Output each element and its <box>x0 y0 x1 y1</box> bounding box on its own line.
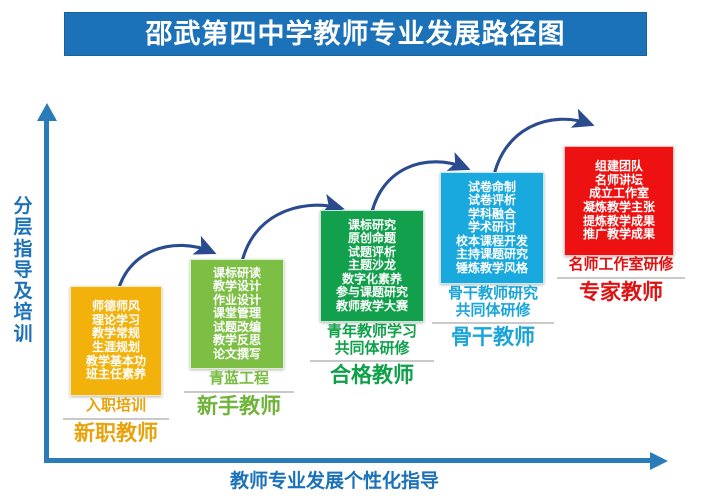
stage-2-item: 教学反思 <box>213 334 261 348</box>
title-banner: 邵武第四中学教师专业发展路径图 <box>64 12 647 56</box>
stage-2-item: 课堂管理 <box>213 307 261 321</box>
stage-1-box[interactable]: 师德师风 理论学习 教学常规 生涯规划 教学基本功 班主任素养 <box>70 286 162 396</box>
stage-3-box[interactable]: 课标研究 原创命题 试题评析 主题沙龙 数字化素养 参与课题研究 教师教学大赛 <box>320 210 424 322</box>
stage-5-program-label: 名师工作室研修 <box>548 257 694 274</box>
x-axis-label: 教师专业发展个性化指导 <box>230 466 439 493</box>
stage-4-program-label: 骨干教师研究 共同体研修 <box>422 286 564 319</box>
stage-1-divider <box>63 418 169 420</box>
stage-4-divider <box>432 322 554 324</box>
stage-5-item: 凝炼教学主张 <box>583 201 655 215</box>
stage-2-divider <box>184 391 294 393</box>
stage-4-program-line2: 共同体研修 <box>422 303 564 320</box>
stage-2-item: 教学设计 <box>213 280 261 294</box>
x-axis-line <box>44 458 654 463</box>
stage-2-program-label: 青蓝工程 <box>174 371 304 388</box>
stage-1-item: 班主任素养 <box>86 368 146 382</box>
stage-3-item: 教师教学大赛 <box>336 300 408 314</box>
stage-2-box[interactable]: 课标研读 教学设计 作业设计 课堂管理 试题改编 教学反思 论文撰写 <box>190 259 284 369</box>
stage-5-item: 成立工作室 <box>589 187 649 201</box>
stage-3-program-line1: 青年教师学习 <box>327 323 417 340</box>
stage-1-item: 师德师风 <box>92 300 140 314</box>
stage-5-caption: 名师工作室研修 专家教师 <box>548 257 694 304</box>
stage-2-caption: 青蓝工程 新手教师 <box>174 371 304 418</box>
y-axis-arrowhead-icon <box>37 103 57 121</box>
page-title: 邵武第四中学教师专业发展路径图 <box>146 21 566 48</box>
stage-2-item: 论文撰写 <box>213 348 261 362</box>
stage-5-role-label: 专家教师 <box>548 281 694 304</box>
y-axis-label: 分层指导及培训 <box>8 196 38 345</box>
stage-3-item: 原创命题 <box>348 232 396 246</box>
stage-4-item: 主持课题研究 <box>456 248 528 262</box>
stage-5-divider <box>557 277 685 279</box>
y-axis-line <box>44 118 49 463</box>
teacher-development-path-diagram: 邵武第四中学教师专业发展路径图 分层指导及培训 教师专业发展个性化指导 师德师风… <box>0 0 710 500</box>
stage-4-item: 学术研讨 <box>468 221 516 235</box>
stage-1-program-label: 入职培训 <box>52 398 180 415</box>
stage-3-item: 参与课题研究 <box>336 286 408 300</box>
stage-5-box[interactable]: 组建团队 名师讲坛 成立工作室 凝炼教学主张 提炼教学成果 推广教学成果 <box>564 146 674 256</box>
stage-4-role-label: 骨干教师 <box>422 326 564 349</box>
stage-3-role-label: 合格教师 <box>300 364 444 387</box>
stage-1-item: 生涯规划 <box>92 341 140 355</box>
stage-3-item: 主题沙龙 <box>348 259 396 273</box>
stage-4-caption: 骨干教师研究 共同体研修 骨干教师 <box>422 286 564 349</box>
stage-2-role-label: 新手教师 <box>174 395 304 418</box>
stage-4-item: 试卷评析 <box>468 194 516 208</box>
stage-1-caption: 入职培训 新职教师 <box>52 398 180 445</box>
stage-1-item: 教学常规 <box>92 327 140 341</box>
stage-5-item: 推广教学成果 <box>583 228 655 242</box>
stage-4-item: 锤炼教学风格 <box>456 262 528 276</box>
stage-3-divider <box>310 360 434 362</box>
stage-5-item: 组建团队 <box>595 160 643 174</box>
stage-4-program-line1: 骨干教师研究 <box>448 285 538 302</box>
stage-1-role-label: 新职教师 <box>52 422 180 445</box>
stage-4-box[interactable]: 试卷命制 试卷评析 学科融合 学术研讨 校本课程开发 主持课题研究 锤炼教学风格 <box>440 172 544 284</box>
x-axis-arrowhead-icon <box>650 452 668 470</box>
